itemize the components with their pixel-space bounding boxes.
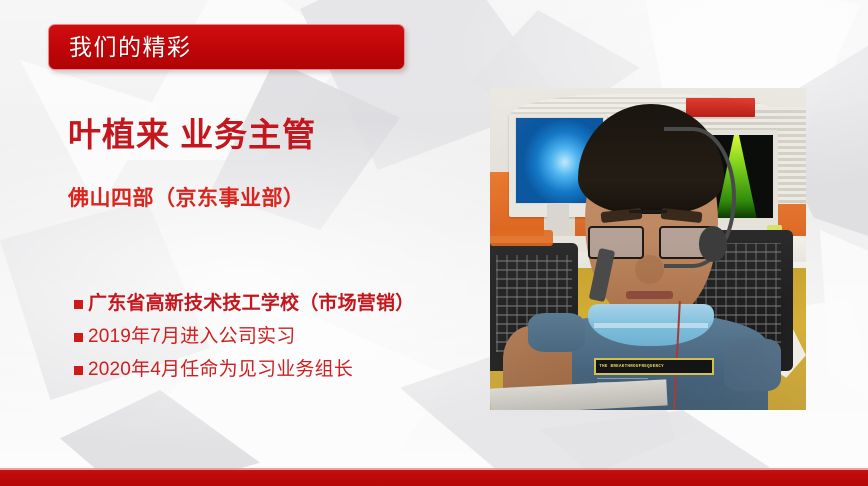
person-name-and-title: 叶植来 业务主管	[68, 117, 316, 153]
bottom-accent-bar	[0, 470, 868, 486]
person-photo: THE BREAKTHROUFREQUENCY	[490, 88, 806, 410]
slide-canvas: 我们的精彩 叶植来 业务主管 佛山四部（京东事业部） 广东省高新技术技工学校（市…	[0, 0, 868, 486]
achievement-list: 广东省高新技术技工学校（市场营销） 2019年7月进入公司实习 2020年4月任…	[74, 292, 474, 390]
list-item: 2020年4月任命为见习业务组长	[74, 358, 474, 382]
list-item-label: 2019年7月进入公司实习	[88, 325, 295, 349]
section-header-label: 我们的精彩	[69, 36, 192, 59]
list-item-label: 广东省高新技术技工学校（市场营销）	[88, 292, 414, 316]
square-bullet-icon	[74, 300, 83, 309]
list-item: 2019年7月进入公司实习	[74, 325, 474, 349]
list-item-label: 2020年4月任命为见习业务组长	[88, 358, 353, 382]
photo-vignette	[490, 88, 806, 410]
section-header-banner: 我们的精彩	[48, 24, 405, 70]
list-item: 广东省高新技术技工学校（市场营销）	[74, 292, 474, 316]
square-bullet-icon	[74, 333, 83, 342]
square-bullet-icon	[74, 366, 83, 375]
person-department: 佛山四部（京东事业部）	[68, 186, 305, 211]
